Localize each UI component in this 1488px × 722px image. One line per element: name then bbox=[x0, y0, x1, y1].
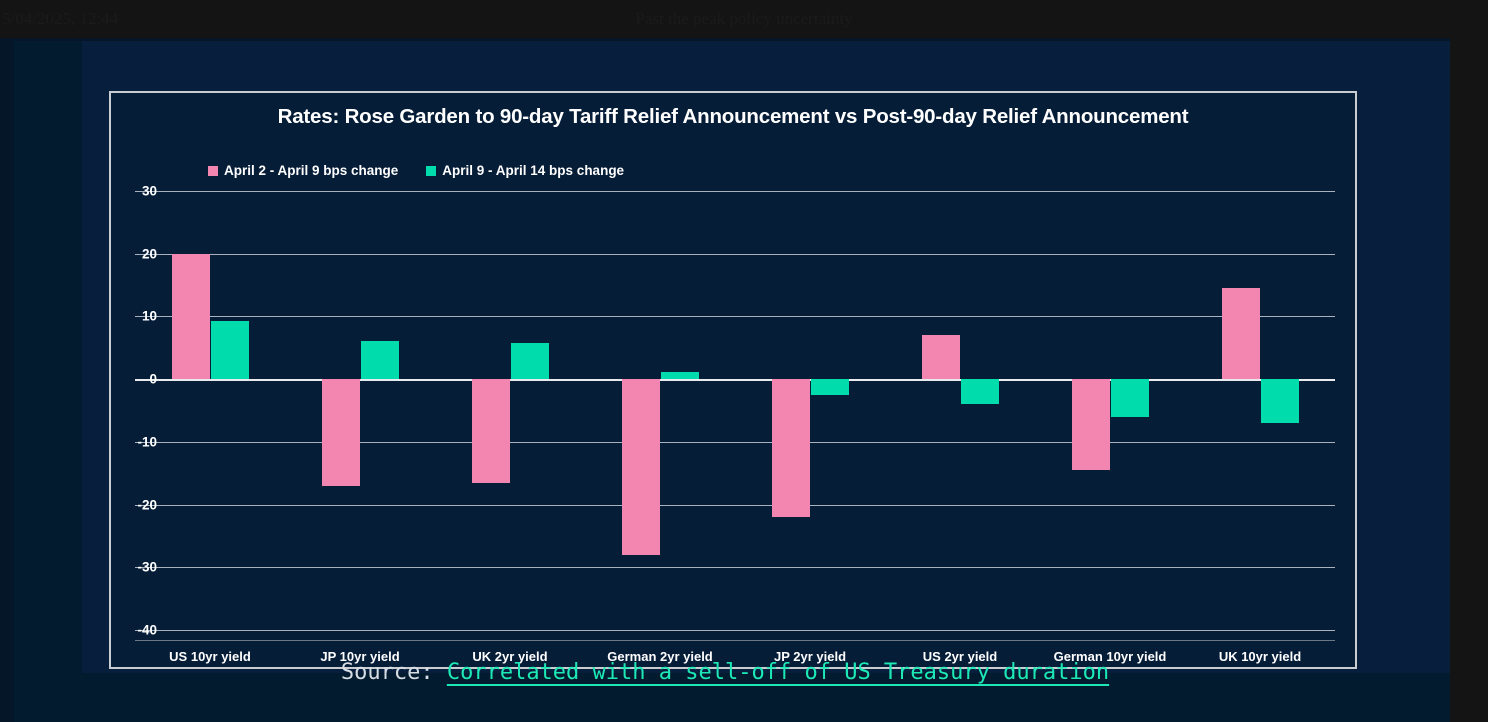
bars-layer bbox=[111, 93, 1355, 667]
bar-1[interactable] bbox=[622, 379, 660, 555]
bar-1[interactable] bbox=[922, 335, 960, 379]
bar-2[interactable] bbox=[1111, 379, 1149, 417]
bar-2[interactable] bbox=[1261, 379, 1299, 423]
bar-2[interactable] bbox=[811, 379, 849, 395]
print-header-title: Past the peak policy uncertainty bbox=[0, 0, 1488, 38]
bar-1[interactable] bbox=[772, 379, 810, 517]
bar-1[interactable] bbox=[472, 379, 510, 482]
bar-1[interactable] bbox=[322, 379, 360, 486]
chart-panel: Rates: Rose Garden to 90-day Tariff Reli… bbox=[109, 91, 1357, 669]
source-label: Source: bbox=[341, 660, 447, 685]
bar-2[interactable] bbox=[211, 321, 249, 379]
bar-2[interactable] bbox=[511, 343, 549, 379]
print-header: 5/04/2025, 12:44 Past the peak policy un… bbox=[0, 0, 1488, 38]
bar-1[interactable] bbox=[172, 254, 210, 379]
bar-2[interactable] bbox=[361, 341, 399, 379]
source-link[interactable]: Correlated with a sell-off of US Treasur… bbox=[447, 660, 1109, 685]
bar-2[interactable] bbox=[661, 372, 699, 380]
slide-area: Rates: Rose Garden to 90-day Tariff Reli… bbox=[0, 38, 1450, 722]
bar-1[interactable] bbox=[1072, 379, 1110, 470]
bar-2[interactable] bbox=[961, 379, 999, 404]
plot-area: 3020100-10-20-30-40 US 10yr yieldJP 10yr… bbox=[111, 93, 1355, 667]
bar-1[interactable] bbox=[1222, 288, 1260, 379]
source-line: Source: Correlated with a sell-off of US… bbox=[0, 660, 1450, 685]
page-root: 5/04/2025, 12:44 Past the peak policy un… bbox=[0, 0, 1488, 722]
x-axis-rule bbox=[135, 640, 1335, 641]
